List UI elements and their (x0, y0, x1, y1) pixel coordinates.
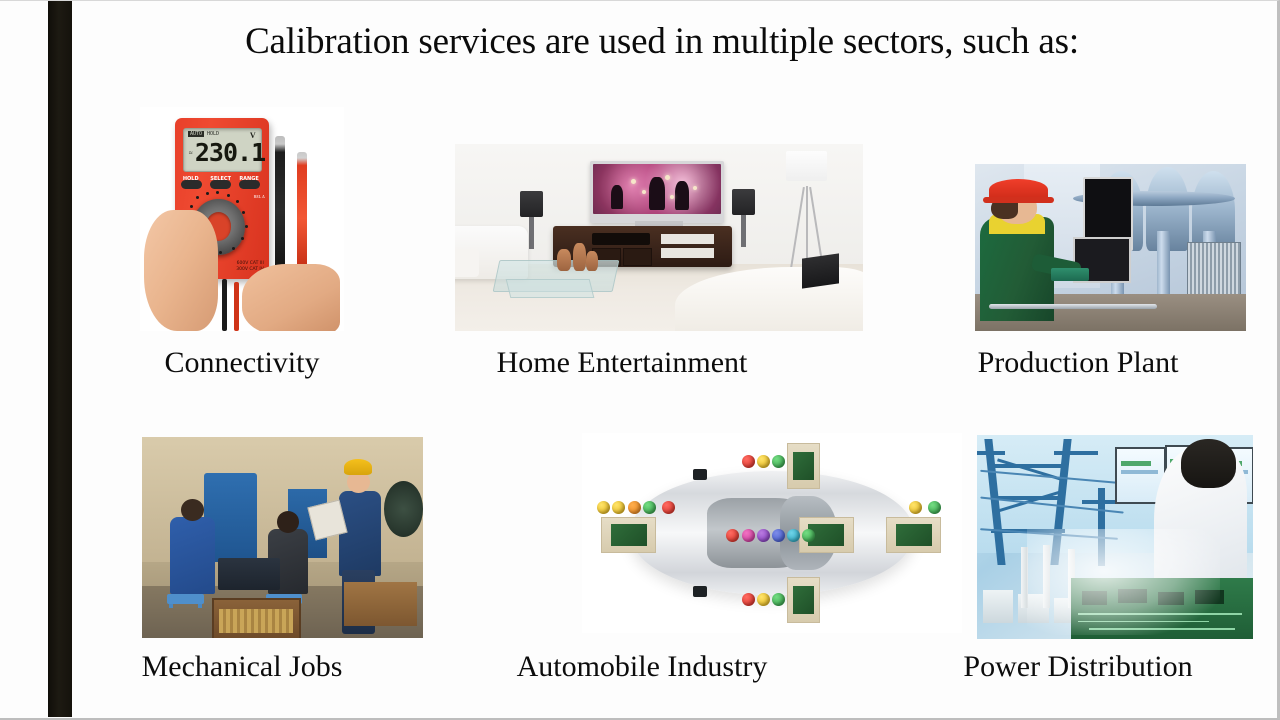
wooden-pallet (344, 582, 417, 626)
worker-1-torso (170, 517, 215, 593)
sensor-dot-top-1 (742, 455, 755, 468)
vase-2 (573, 243, 585, 271)
red-test-probe (297, 152, 307, 273)
right-tower-speaker (732, 189, 754, 215)
tv-screen-content (593, 164, 722, 214)
black-test-probe (275, 136, 285, 270)
vase-1 (557, 249, 571, 271)
sector-card-production-plant[interactable]: Production Plant (832, 97, 1248, 397)
worker-1-stool (167, 594, 204, 604)
caption-production-plant: Production Plant (908, 345, 1248, 381)
vase-3 (586, 251, 598, 272)
stage-light-2 (642, 190, 646, 194)
sensor-module-top (787, 443, 819, 489)
production-plant-scene (975, 164, 1246, 331)
multimeter-lcd: AUTOHOLD V ≈ 230.1 (183, 128, 262, 172)
power-grid-scene (977, 435, 1253, 639)
disc-player (661, 248, 715, 258)
living-room-scene (455, 144, 863, 331)
sensor-dot-bottom-2 (757, 593, 770, 606)
technician-hat-brim (983, 197, 1053, 203)
sensor-dot-left-5 (662, 501, 675, 514)
sector-card-mechanical-jobs[interactable]: Mechanical Jobs (72, 397, 412, 697)
stage-light-3 (665, 175, 670, 180)
left-accent-band (48, 1, 72, 717)
worker-3-torso (339, 491, 381, 575)
left-tower-speaker (520, 191, 542, 217)
sector-card-automobile-industry[interactable]: Automobile Industry (412, 397, 832, 697)
sensor-dot-mid-3 (757, 529, 770, 542)
hold-button[interactable] (181, 180, 202, 188)
stage-light-4 (670, 195, 674, 199)
left-accent-band-gradient (48, 1, 72, 717)
sensor-dot-mid-4 (772, 529, 785, 542)
handheld-calibrator (1051, 268, 1089, 281)
caption-automobile-industry: Automobile Industry (432, 649, 852, 685)
sector-card-home-entertainment[interactable]: Home Entertainment (412, 97, 832, 397)
safety-rail (989, 304, 1157, 309)
lamp-shade (786, 151, 826, 181)
sensor-dot-top-2 (757, 455, 770, 468)
sensor-dot-left-1 (597, 501, 610, 514)
sensor-module-front (601, 517, 656, 553)
stage-light-1 (631, 179, 636, 184)
rel-delta-label: REL Δ (254, 194, 265, 200)
caption-connectivity: Connectivity (72, 345, 412, 381)
console-door-right (623, 248, 652, 266)
left-speaker-pole (529, 217, 534, 249)
multimeter-scene: AUTOHOLD V ≈ 230.1 HOLD SELECT RANGE (140, 107, 344, 331)
production-plant-image (975, 164, 1246, 331)
sector-card-connectivity[interactable]: AUTOHOLD V ≈ 230.1 HOLD SELECT RANGE (72, 97, 412, 397)
worker-3-hard-hat (344, 459, 372, 475)
fog-overlay (1027, 529, 1220, 635)
plant-pipe-riser-2 (1157, 231, 1171, 301)
sector-card-power-distribution[interactable]: Power Distribution (832, 397, 1248, 697)
caption-power-distribution: Power Distribution (908, 649, 1248, 685)
range-button[interactable] (239, 180, 260, 188)
lcd-mode-row: AUTOHOLD (188, 131, 219, 137)
slide-title: Calibration services are used in multipl… (72, 19, 1252, 65)
console-center-opening (592, 233, 649, 245)
av-receiver (661, 234, 715, 245)
lcd-reading: 230.1 (195, 140, 265, 165)
sensor-dot-top-3 (772, 455, 785, 468)
substation-block-1 (983, 590, 1013, 623)
sensor-dot-bottom-1 (742, 593, 755, 606)
power-distribution-image (977, 435, 1253, 639)
connectivity-image: AUTOHOLD V ≈ 230.1 HOLD SELECT RANGE (140, 107, 344, 331)
left-hand (144, 210, 217, 331)
sector-grid: AUTOHOLD V ≈ 230.1 HOLD SELECT RANGE (72, 97, 1248, 707)
work-bench (218, 558, 280, 590)
operator-head (1181, 439, 1236, 488)
stage-figure-2 (649, 177, 664, 210)
lcd-hold-text: HOLD (207, 131, 219, 137)
stage-light-5 (693, 186, 697, 190)
right-hand (242, 264, 340, 331)
caption-mechanical-jobs: Mechanical Jobs (72, 649, 412, 685)
flat-screen-tv (590, 161, 725, 223)
multimeter-button-row[interactable]: HOLD SELECT RANGE (181, 176, 262, 191)
glass-table-lower-shelf (506, 279, 594, 298)
lcd-ac-symbol: ≈ (189, 149, 193, 157)
stage-figure-1 (611, 185, 624, 209)
crate-contents (219, 609, 293, 633)
slide-canvas: Calibration services are used in multipl… (0, 0, 1280, 720)
sensor-dot-left-3 (628, 501, 641, 514)
tower-arm-left (977, 451, 1005, 455)
sensor-module-bottom (787, 577, 819, 623)
stage-figure-3 (675, 181, 689, 210)
right-speaker-pole (741, 215, 746, 247)
red-lead-cable (234, 282, 239, 331)
tower-arm-right (1054, 451, 1098, 455)
car-mirror-left (693, 469, 707, 480)
mechanical-jobs-image (142, 437, 423, 638)
car-mirror-right (693, 586, 707, 597)
sensor-dot-mid-2 (742, 529, 755, 542)
parts-crate (212, 598, 300, 638)
black-lead-cable (222, 279, 227, 331)
sensor-dot-left-4 (643, 501, 656, 514)
home-entertainment-image (455, 144, 863, 331)
sensor-dot-bottom-3 (772, 593, 785, 606)
sensor-dot-left-2 (612, 501, 625, 514)
lcd-auto-badge: AUTO (188, 131, 204, 137)
select-button[interactable] (210, 180, 231, 188)
caption-home-entertainment: Home Entertainment (412, 345, 832, 381)
workshop-scene (142, 437, 423, 638)
sofa-arm (455, 249, 479, 277)
